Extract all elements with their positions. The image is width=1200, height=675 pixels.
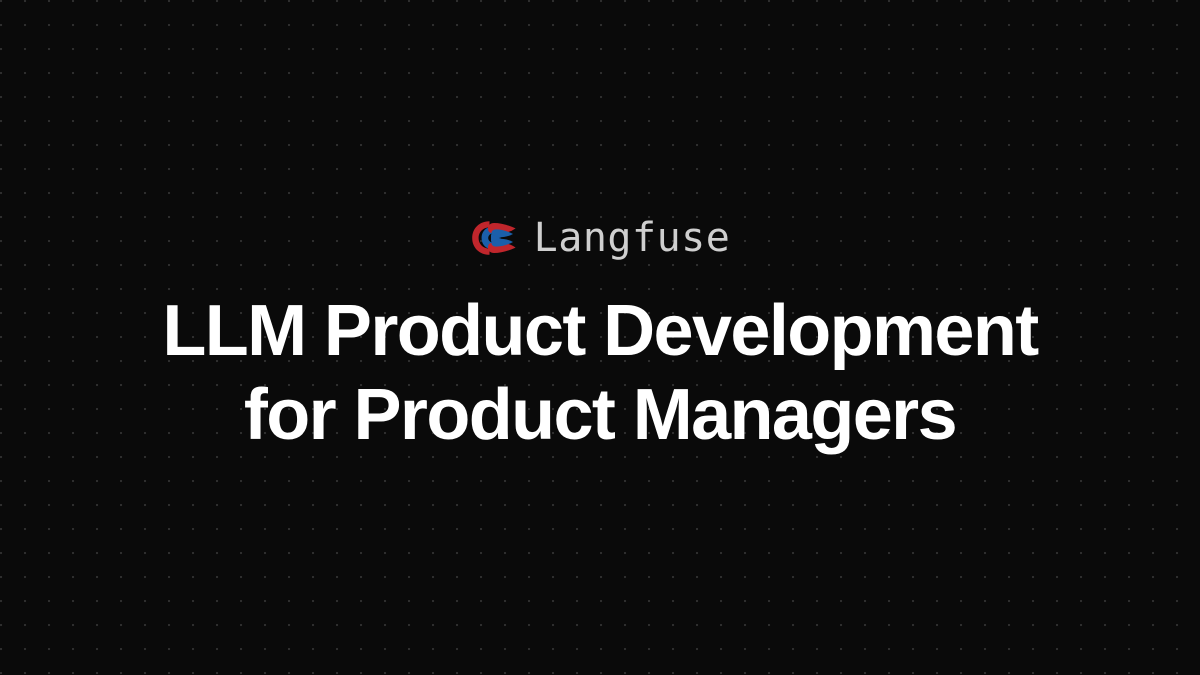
brand-lockup: Langfuse [470, 218, 731, 258]
page-title-line-1: LLM Product Development [162, 290, 1037, 374]
card-content: Langfuse LLM Product Development for Pro… [0, 0, 1200, 675]
page-title: LLM Product Development for Product Mana… [162, 290, 1037, 457]
og-card-canvas: Langfuse LLM Product Development for Pro… [0, 0, 1200, 675]
langfuse-logo-mark-icon [470, 219, 518, 257]
page-title-line-2: for Product Managers [162, 374, 1037, 458]
brand-name-wordmark: Langfuse [534, 218, 731, 258]
